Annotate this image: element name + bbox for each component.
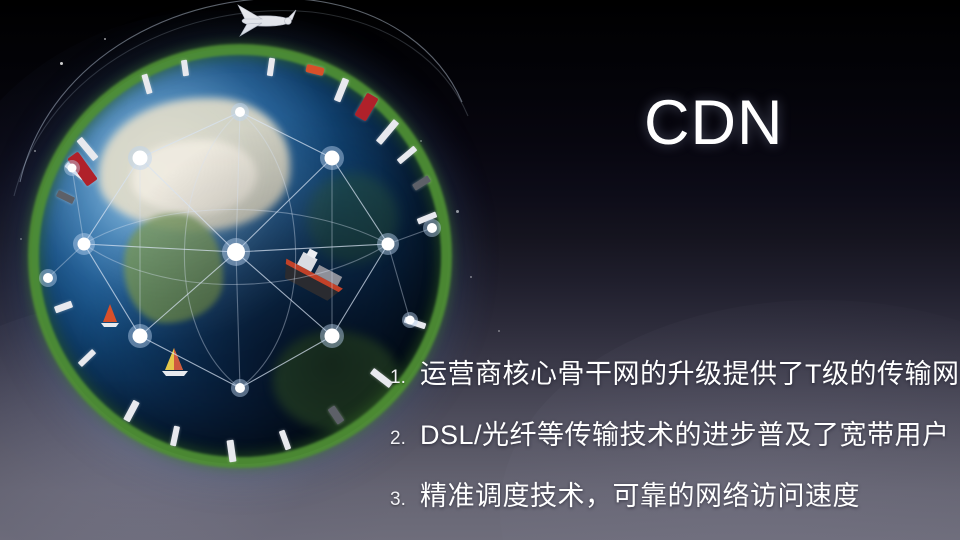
list-item-number: 2. xyxy=(390,428,420,450)
list-item: 1. 运营商核心骨干网的升级提供了T级的传输网 xyxy=(390,352,956,391)
bullet-list: 1. 运营商核心骨干网的升级提供了T级的传输网 2. DSL/光纤等传输技术的进… xyxy=(390,352,956,513)
list-item-number: 3. xyxy=(390,489,420,511)
list-item-number: 1. xyxy=(390,367,420,389)
list-item-text: 运营商核心骨干网的升级提供了T级的传输网 xyxy=(420,352,960,391)
network-overlay xyxy=(32,48,448,464)
list-item: 3. 精准调度技术，可靠的网络访问速度 xyxy=(390,474,956,513)
list-item-text: 精准调度技术，可靠的网络访问速度 xyxy=(420,474,860,513)
list-item: 2. DSL/光纤等传输技术的进步普及了宽带用户 xyxy=(390,413,956,452)
airplane-icon xyxy=(226,2,300,44)
presentation-slide: CDN 1. 运营商核心骨干网的升级提供了T级的传输网 2. DSL/光纤等传输… xyxy=(0,0,960,540)
network-nodes xyxy=(39,103,441,397)
page-title: CDN xyxy=(644,92,784,155)
list-item-text: DSL/光纤等传输技术的进步普及了宽带用户 xyxy=(420,413,950,452)
earth-globe-illustration xyxy=(32,48,448,464)
